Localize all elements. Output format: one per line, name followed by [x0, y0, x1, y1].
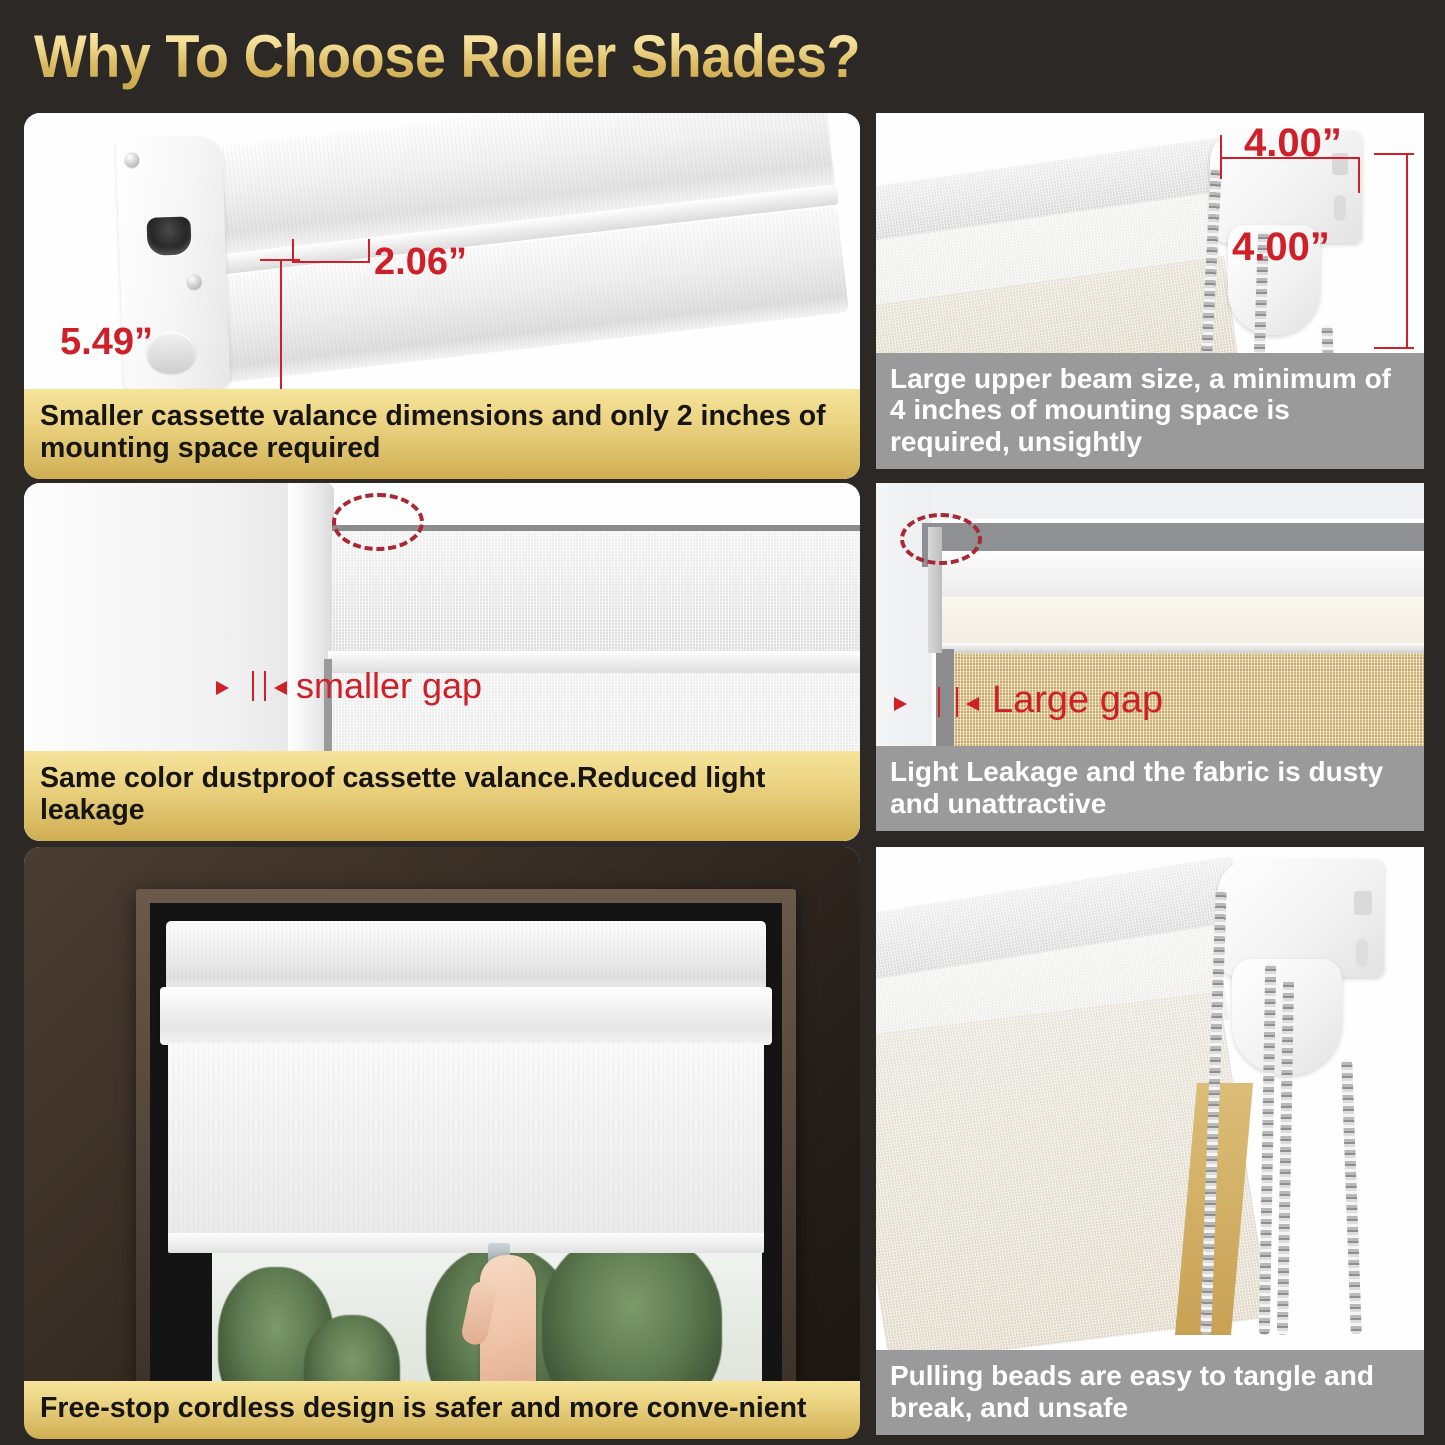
bracket-keyhole-top: [1354, 891, 1372, 915]
highlight-ellipse-gap: [900, 513, 982, 565]
caption-cordless-design: Free-stop cordless design is safer and m…: [24, 1381, 860, 1439]
panel-pulling-beads: Pulling beads are easy to tangle and bre…: [876, 847, 1424, 1435]
window-frame: [136, 889, 796, 1397]
dim-tick-right-400w: [1358, 157, 1360, 193]
end-cap-screw-mid: [186, 274, 202, 290]
caption-large-upper-beam: Large upper beam size, a minimum of 4 in…: [876, 353, 1424, 469]
end-cap-knob: [146, 330, 195, 374]
dim-line-400h: [1406, 153, 1408, 349]
dim-tick-top-400h: [1374, 153, 1414, 155]
room-window-scene: [24, 847, 860, 1439]
end-cap-screw-top: [124, 152, 140, 168]
dim-tick-right-206: [368, 239, 370, 263]
tree-right: [542, 1235, 722, 1397]
shade-fabric: [168, 1043, 764, 1251]
bracket-keyhole-bottom: [1356, 939, 1368, 967]
gap-tick-left: [252, 671, 254, 701]
gap-arrow-left: [216, 681, 229, 695]
gap-tick-right: [956, 687, 958, 717]
cassette-front-lip: [160, 987, 772, 1045]
dimension-label-height: 5.49”: [60, 321, 153, 364]
shade-divider-rail: [942, 643, 1424, 653]
shade-bottom-rail: [168, 1233, 764, 1253]
panel-large-upper-beam: 4.00” 4.00” Large upper beam size, a min…: [876, 113, 1424, 469]
comparison-grid: 2.06” 5.49” Smaller cassette valance dim…: [0, 105, 1445, 1445]
dimension-label-width: 2.06”: [374, 241, 467, 284]
dimension-label-beam-height: 4.00”: [1232, 225, 1330, 270]
panel-cordless-design: Free-stop cordless design is safer and m…: [24, 847, 860, 1439]
gap-arrow-right: [274, 681, 287, 695]
gap-tick-right: [264, 671, 266, 701]
ceiling-surface: [876, 483, 1424, 519]
page-title: Why To Choose Roller Shades?: [34, 22, 1150, 94]
shade-top-fabric: [942, 597, 1424, 647]
dimension-label-beam-width: 4.00”: [1244, 121, 1342, 166]
bracket-keyhole-bottom: [1334, 195, 1346, 221]
dim-tick-bottom-400h: [1374, 347, 1414, 349]
end-cap-slot: [146, 216, 191, 256]
roller-tube: [932, 551, 1424, 603]
caption-light-leakage: Light Leakage and the fabric is dusty an…: [876, 746, 1424, 831]
panel-light-leakage: Large gap Light Leakage and the fabric i…: [876, 483, 1424, 831]
bead-chain-illustration: [876, 847, 1424, 1435]
panel-smaller-cassette: 2.06” 5.49” Smaller cassette valance dim…: [24, 113, 860, 479]
gap-label-smaller: smaller gap: [296, 665, 482, 707]
caption-smaller-cassette: Smaller cassette valance dimensions and …: [24, 389, 860, 479]
gap-label-large: Large gap: [992, 679, 1163, 722]
highlight-ellipse-gap: [332, 493, 424, 551]
panel-dustproof-cassette: smaller gap Same color dustproof cassett…: [24, 483, 860, 841]
cassette-upper-face: [332, 531, 860, 659]
caption-pulling-beads: Pulling beads are easy to tangle and bre…: [876, 1350, 1424, 1435]
gap-tick-left: [938, 687, 940, 717]
gap-arrow-right: [966, 697, 979, 711]
dim-line-206: [292, 261, 370, 263]
caption-dustproof-cassette: Same color dustproof cassette valance.Re…: [24, 751, 860, 841]
gap-arrow-left: [894, 697, 907, 711]
cassette-headrail: [166, 921, 766, 993]
dim-tick-top-549: [260, 259, 300, 261]
window-opening: [150, 903, 782, 1397]
